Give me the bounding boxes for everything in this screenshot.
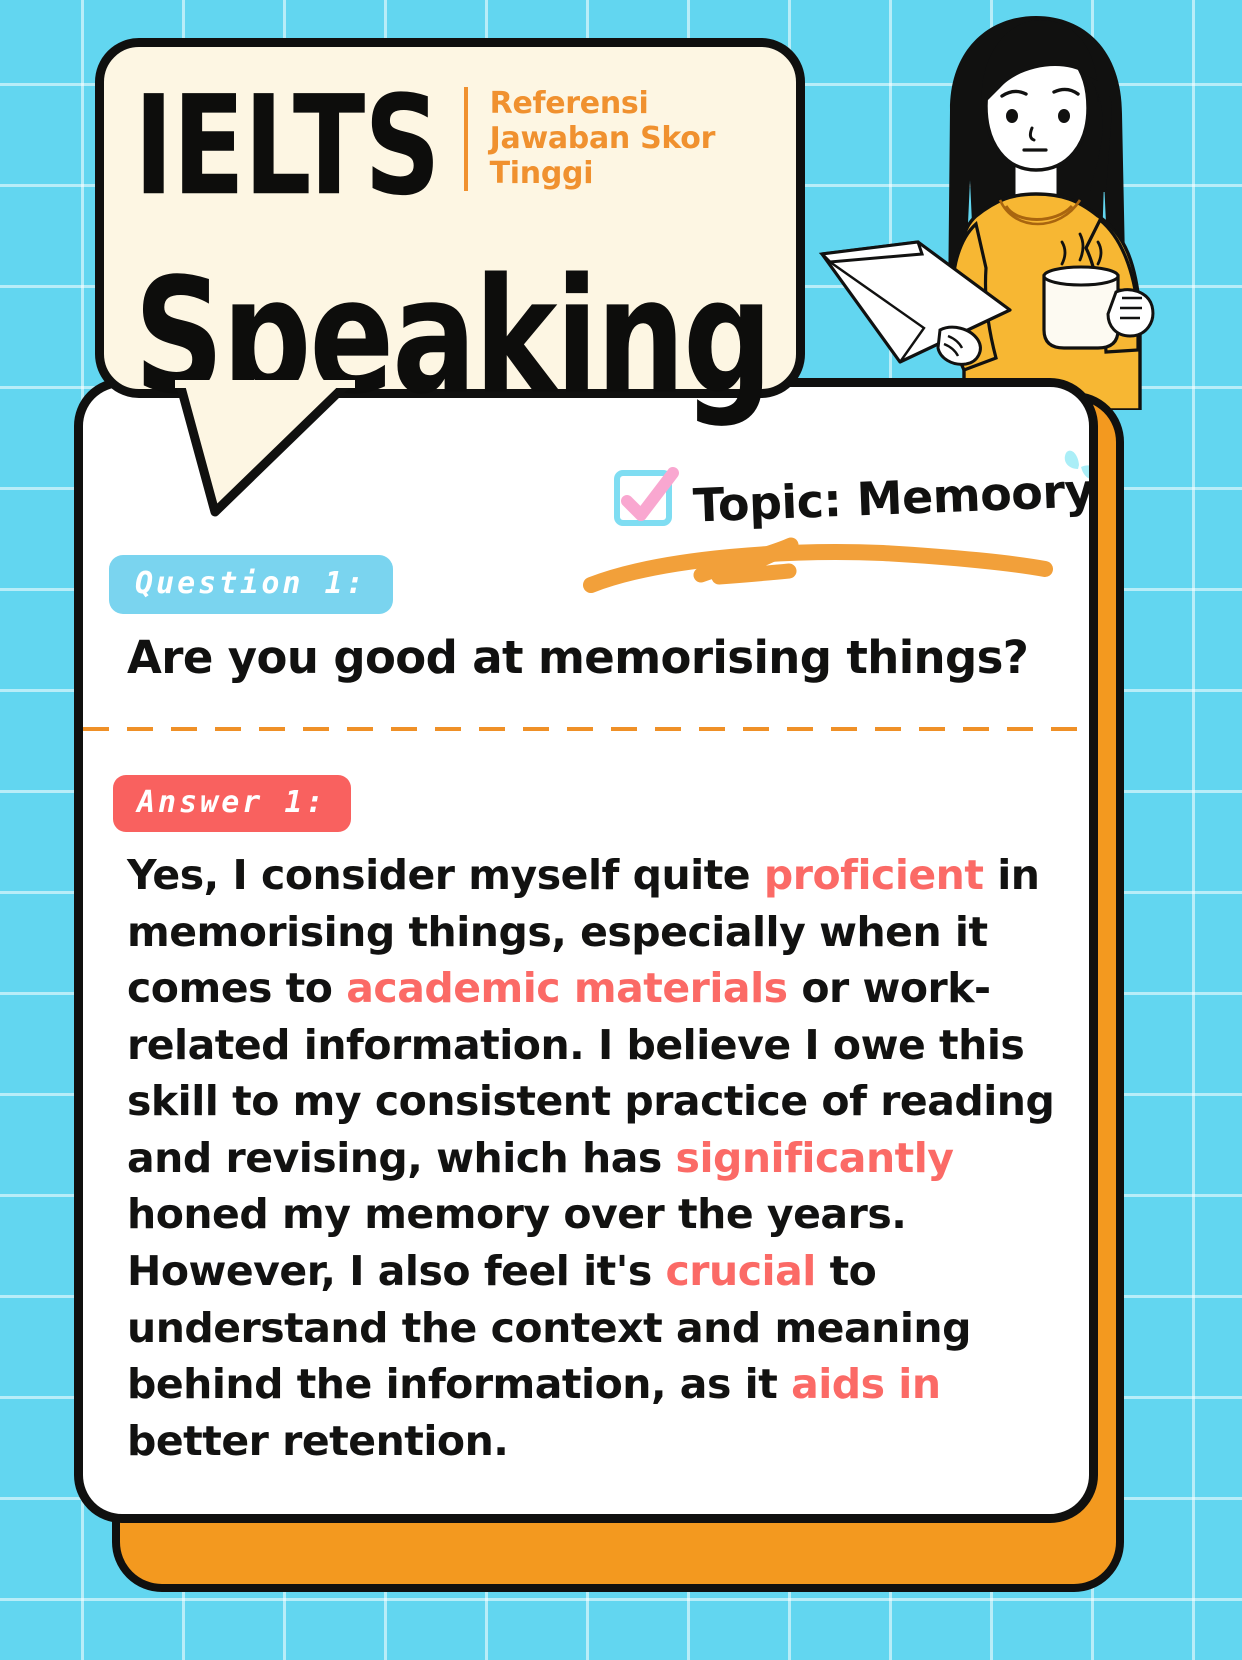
subtitle-line-2: Jawaban Skor [490, 122, 715, 157]
answer-tag-label: Answer 1: [137, 785, 327, 820]
question-tag-label: Question 1: [135, 566, 367, 601]
subtitle-block: Referensi Jawaban Skor Tinggi [490, 87, 715, 191]
topic-underline-marker [583, 535, 1053, 593]
answer-highlight: aids in [791, 1360, 941, 1408]
subtitle-line-3: Tinggi [490, 157, 715, 192]
speech-bubble-tail [175, 380, 355, 520]
topic-row: Topic: Memoory [613, 467, 1094, 529]
title-divider [464, 87, 468, 191]
answer-segment: Yes, I consider myself quite [127, 851, 764, 899]
illustration-woman-reading [800, 10, 1160, 410]
answer-highlight: crucial [666, 1247, 816, 1295]
main-content-card: Topic: Memoory Question 1: Are you good … [74, 378, 1098, 1523]
dashed-divider [83, 727, 1091, 731]
title-speech-bubble: IELTS Referensi Jawaban Skor Tinggi Spea… [95, 38, 805, 398]
topic-checkbox[interactable] [613, 467, 679, 529]
title-ielts: IELTS [134, 81, 440, 211]
answer-highlight: academic materials [346, 964, 787, 1012]
answer-highlight: significantly [676, 1134, 954, 1182]
topic-label: Topic: Memoory [692, 463, 1095, 532]
butterfly-icon [1060, 447, 1098, 485]
answer-text: Yes, I consider myself quite proficient … [127, 847, 1075, 1469]
answer-segment: better retention. [127, 1417, 508, 1465]
subtitle-line-1: Referensi [490, 87, 715, 122]
answer-tag-badge: Answer 1: [113, 775, 351, 832]
answer-highlight: proficient [764, 851, 984, 899]
question-text: Are you good at memorising things? [127, 632, 1077, 684]
question-tag-badge: Question 1: [109, 555, 393, 614]
